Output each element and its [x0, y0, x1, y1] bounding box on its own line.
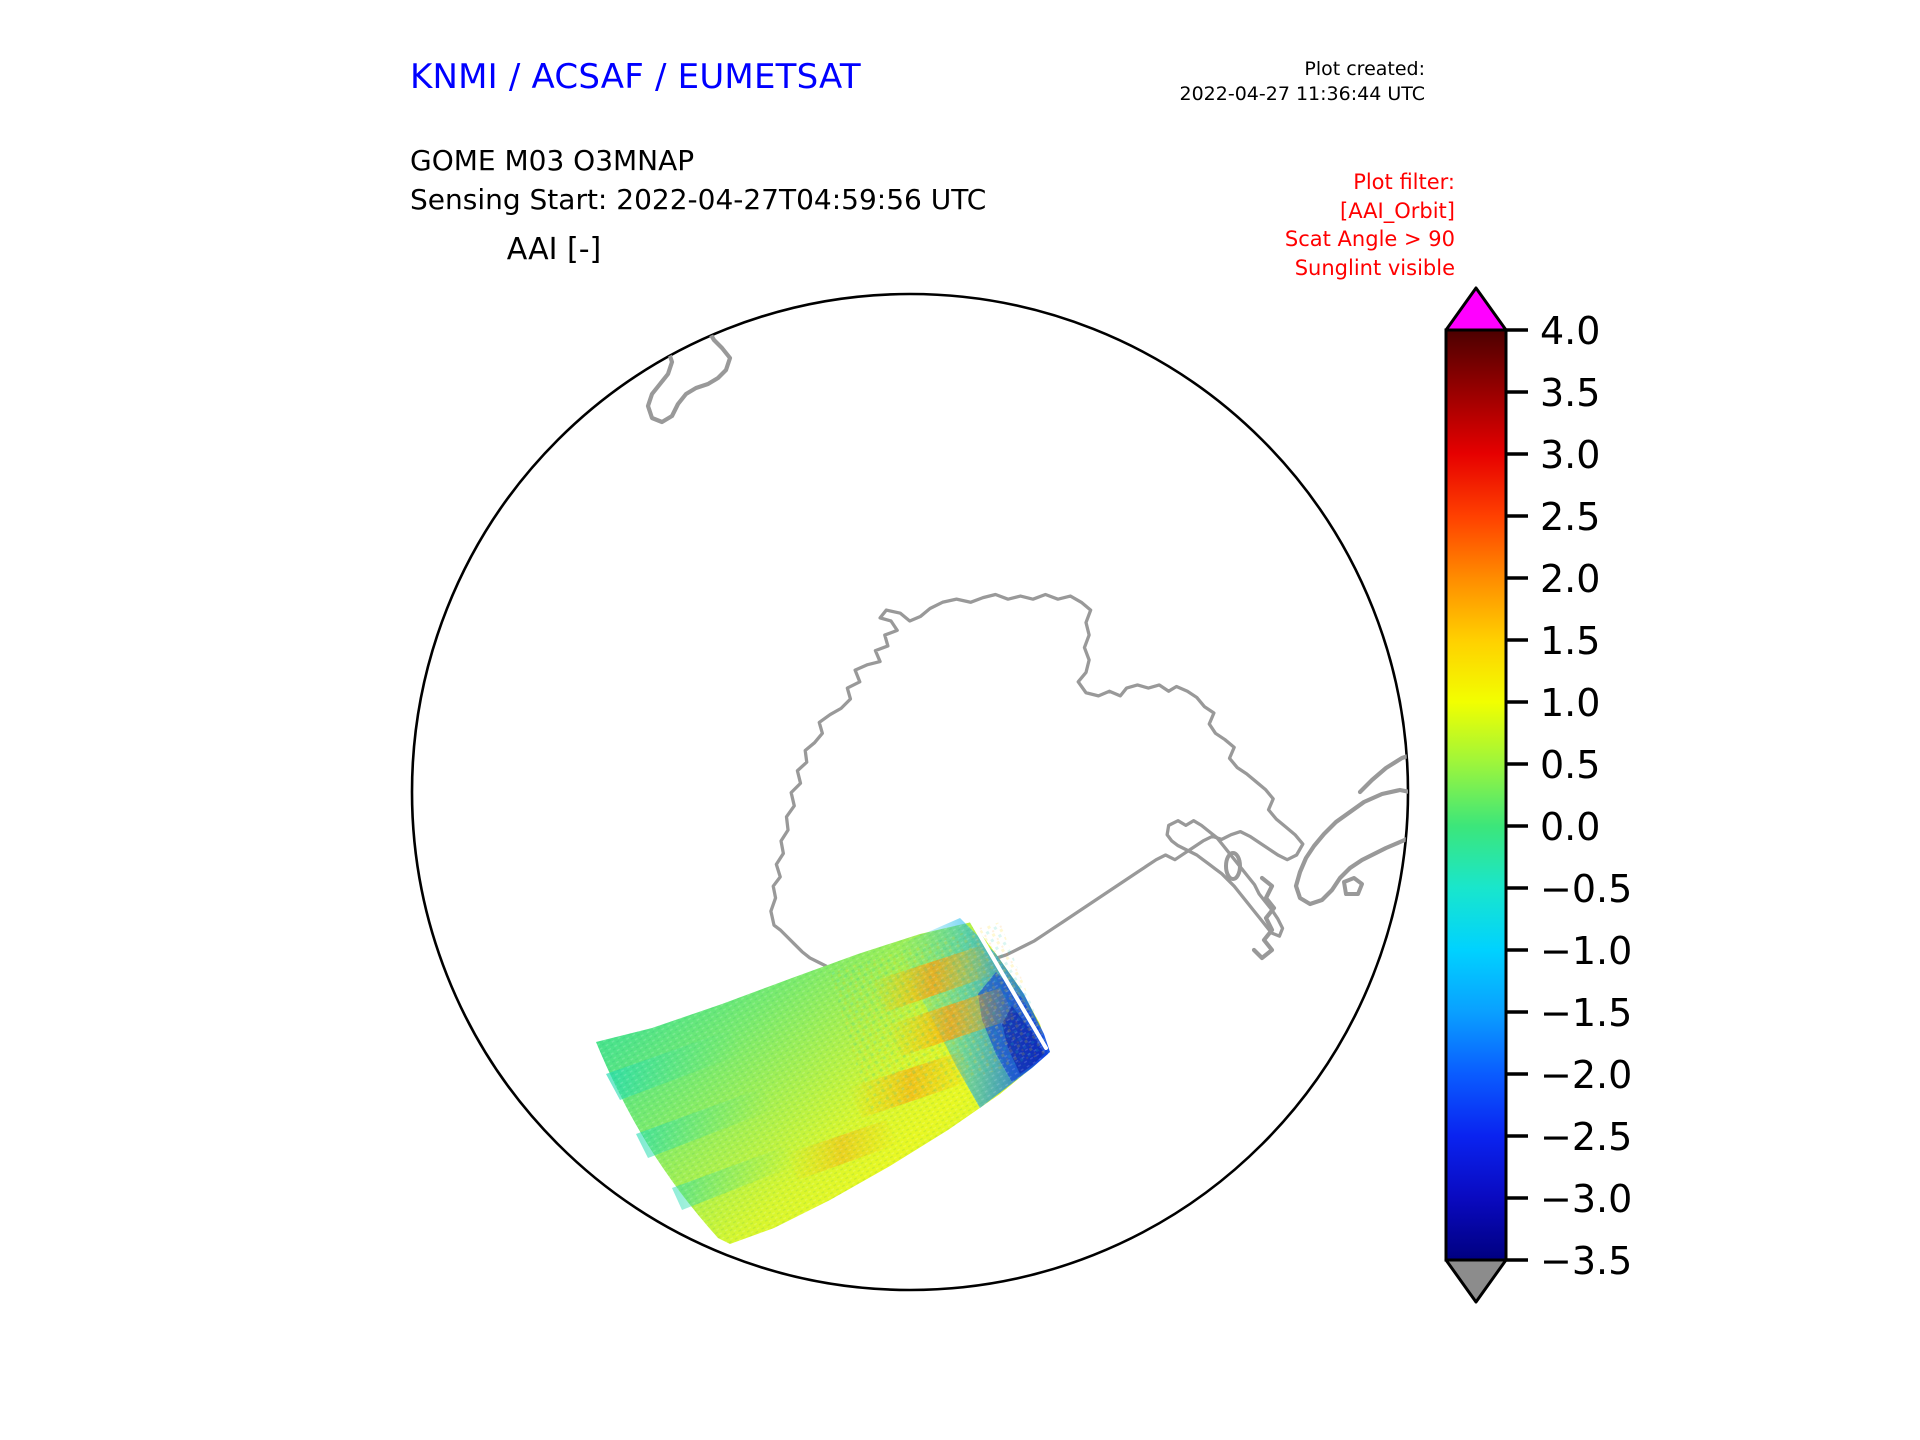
colorbar-tick-label: −1.0 — [1540, 929, 1632, 973]
colorbar-tick-label: −3.5 — [1540, 1239, 1632, 1283]
colorbar-panel: 4.0 3.5 3.0 2.5 2.0 1.5 1.0 0.5 0.0 −0 — [1432, 282, 1762, 1322]
colorbar-tick-label: 0.5 — [1540, 743, 1600, 787]
organisation-title: KNMI / ACSAF / EUMETSAT — [410, 57, 861, 97]
colorbar-tick-label: −3.0 — [1540, 1177, 1632, 1221]
left-edge-coastline — [400, 334, 508, 364]
southern-island-coastline — [526, 360, 570, 404]
product-info-block: GOME M03 O3MNAP Sensing Start: 2022-04-2… — [410, 142, 986, 219]
colorbar-tick-label: 3.5 — [1540, 371, 1600, 415]
colorbar-tick-label: −0.5 — [1540, 867, 1632, 911]
colorbar-gradient — [1446, 330, 1506, 1260]
colorbar-tick-label: 2.0 — [1540, 557, 1600, 601]
colorbar-tick-label: 3.0 — [1540, 433, 1600, 477]
colorbar-tick-label: −2.5 — [1540, 1115, 1632, 1159]
plot-filter-line-3: Sunglint visible — [1285, 254, 1455, 283]
map-panel — [400, 282, 1420, 1302]
plot-filter-line-2: Scat Angle > 90 — [1285, 225, 1455, 254]
plot-page: KNMI / ACSAF / EUMETSAT Plot created: 20… — [0, 0, 1920, 1440]
plot-filter-line-1: [AAI_Orbit] — [1285, 197, 1455, 226]
colorbar-tick-label: 1.5 — [1540, 619, 1600, 663]
colorbar-tick-label: 1.0 — [1540, 681, 1600, 725]
new-zealand-north-island — [710, 284, 740, 316]
page-title: AAI [-] — [0, 232, 1108, 267]
plot-filter-title: Plot filter: — [1285, 168, 1455, 197]
colorbar-tick-label: 0.0 — [1540, 805, 1600, 849]
colorbar-over-arrow — [1446, 288, 1506, 330]
colorbar-tick-label: 4.0 — [1540, 309, 1600, 353]
map-svg — [400, 282, 1420, 1302]
plot-created-label: Plot created: — [1180, 57, 1426, 82]
colorbar-under-arrow — [1446, 1260, 1506, 1302]
product-name: GOME M03 O3MNAP — [410, 142, 986, 181]
colorbar-tick-label: 2.5 — [1540, 495, 1600, 539]
colorbar-tick-label: −2.0 — [1540, 1053, 1632, 1097]
plot-created-block: Plot created: 2022-04-27 11:36:44 UTC — [1180, 57, 1426, 106]
plot-filter-block: Plot filter: [AAI_Orbit] Scat Angle > 90… — [1285, 168, 1455, 282]
sensing-start: Sensing Start: 2022-04-27T04:59:56 UTC — [410, 181, 986, 220]
plot-created-timestamp: 2022-04-27 11:36:44 UTC — [1180, 82, 1426, 107]
colorbar-tick-label: −1.5 — [1540, 991, 1632, 1035]
colorbar-svg: 4.0 3.5 3.0 2.5 2.0 1.5 1.0 0.5 0.0 −0 — [1432, 282, 1762, 1322]
colorbar-ticks: 4.0 3.5 3.0 2.5 2.0 1.5 1.0 0.5 0.0 −0 — [1506, 309, 1632, 1283]
